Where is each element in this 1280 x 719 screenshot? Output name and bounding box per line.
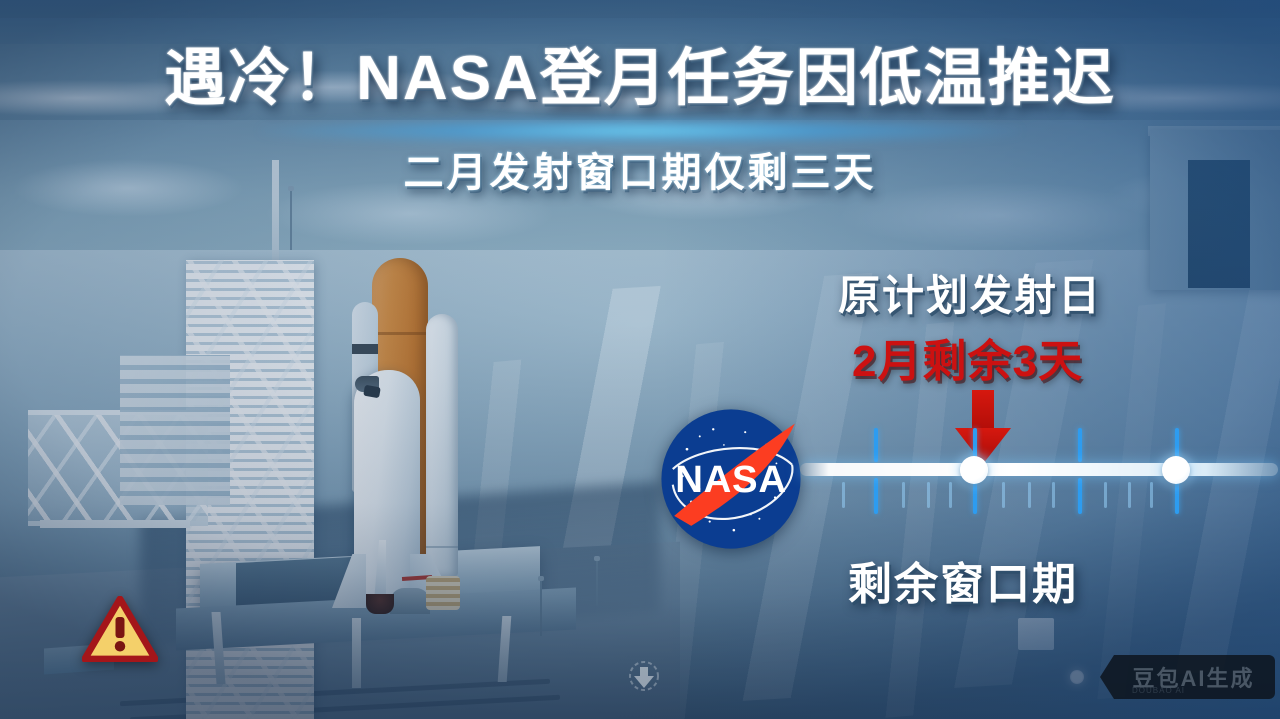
pad-support-leg	[352, 618, 361, 688]
timeline-tick-minor	[949, 482, 952, 508]
ground-light	[1070, 670, 1084, 684]
timeline-node-planned[interactable]	[960, 456, 988, 484]
ground-support-building	[1018, 618, 1054, 650]
remaining-window-label: 剩余窗口期	[848, 548, 1078, 612]
main-engine-bells	[366, 594, 394, 614]
timeline-tick-minor	[1128, 482, 1131, 508]
timeline-node-deadline[interactable]	[1162, 456, 1190, 484]
timeline-tick-minor	[902, 482, 905, 508]
page-title: 遇冷！NASA登月任务因低温推迟	[0, 46, 1280, 111]
light-pole	[596, 560, 598, 606]
timeline-tick-major	[1078, 428, 1082, 462]
timeline-tick-minor	[927, 482, 930, 508]
service-arm-lower	[40, 520, 190, 528]
launch-window-timeline	[790, 400, 1280, 530]
light-pole	[540, 580, 542, 636]
page-subtitle: 二月发射窗口期仅剩三天	[404, 140, 877, 198]
solid-rocket-booster-right	[426, 314, 458, 576]
nasa-logo: NASA	[660, 408, 802, 550]
timeline-tick-major	[874, 428, 878, 462]
lightning-mast	[272, 160, 279, 270]
timeline-tick-minor	[842, 482, 845, 508]
warning-triangle-icon	[82, 596, 158, 662]
timeline-bar	[800, 463, 1278, 476]
headline-block: 遇冷！NASA登月任务因低温推迟	[0, 46, 1280, 111]
hold-down-post	[390, 588, 430, 614]
vab-door	[1188, 160, 1250, 288]
watermark-badge: 豆包AI生成 DOUBAO AI	[1100, 655, 1275, 699]
rotating-service-structure	[120, 355, 230, 505]
timeline-tick-minor	[1104, 482, 1107, 508]
timeline-tick-minor	[1002, 482, 1005, 508]
timeline-tick-minor	[1150, 482, 1153, 508]
countdown-label: 2月剩余3天	[852, 325, 1083, 389]
space-shuttle-stack	[330, 258, 460, 618]
timeline-tick-minor	[1052, 482, 1055, 508]
timeline-tick-major	[874, 478, 878, 514]
srb-aft-skirt	[426, 576, 460, 610]
nasa-wordmark: NASA	[675, 458, 786, 501]
watermark-subtext: DOUBAO AI	[1132, 686, 1185, 695]
timeline-tick-major	[1078, 478, 1082, 514]
poster-canvas: 遇冷！NASA登月任务因低温推迟 二月发射窗口期仅剩三天 NASA 原计划发射日…	[0, 0, 1280, 719]
timeline-tick-minor	[1028, 482, 1031, 508]
download-arrow-icon	[628, 660, 660, 694]
light-pole	[290, 190, 292, 250]
srb-band	[352, 344, 378, 354]
planned-launch-label: 原计划发射日	[838, 262, 1102, 323]
orbiter-wing-left	[332, 554, 366, 608]
